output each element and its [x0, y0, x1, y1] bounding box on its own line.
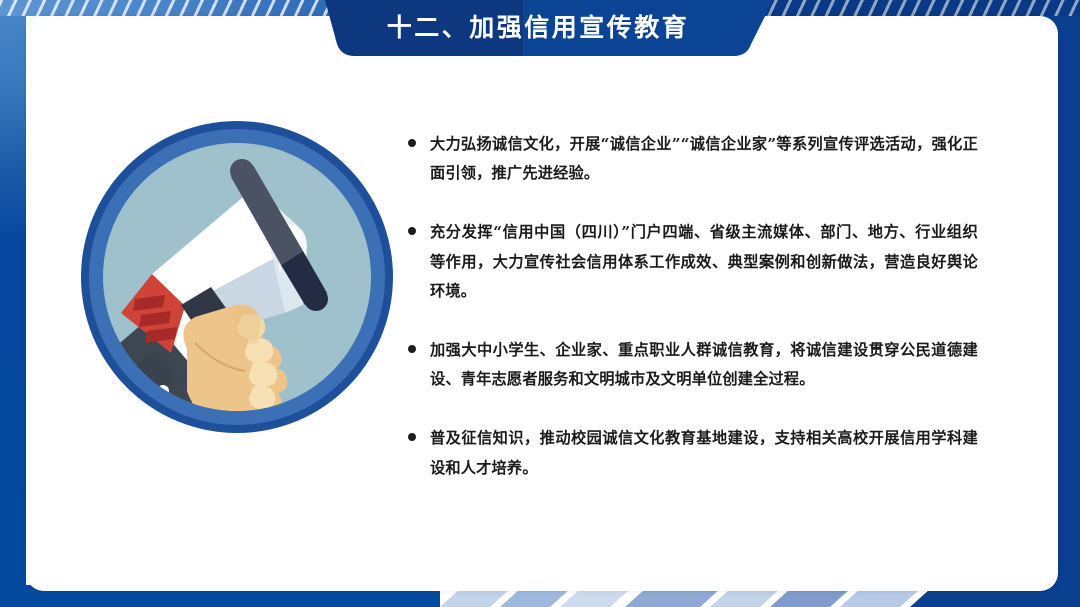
left-edge-gradient-bar — [0, 0, 26, 607]
slide-root: 十二、加强信用宣传教育 — [0, 0, 1080, 607]
bullet-list: 大力弘扬诚信文化，开展“诚信企业”“诚信企业家”等系列宣传评选活动，强化正面引领… — [408, 130, 978, 483]
bullet-text: 加强大中小学生、企业家、重点职业人群诚信教育，将诚信建设贯穿公民道德建设、青年志… — [430, 336, 978, 394]
list-item: 加强大中小学生、企业家、重点职业人群诚信教育，将诚信建设贯穿公民道德建设、青年志… — [408, 336, 978, 394]
bullet-dot-icon — [408, 433, 416, 441]
bullet-dot-icon — [408, 139, 416, 147]
megaphone-illustration — [59, 99, 415, 455]
right-edge-bar — [1058, 0, 1080, 607]
bullet-dot-icon — [408, 227, 416, 235]
list-item: 充分发挥“信用中国（四川）”门户四端、省级主流媒体、部门、地方、行业组织等作用，… — [408, 218, 978, 306]
title-banner: 十二、加强信用宣传教育 — [303, 0, 773, 60]
bullet-text: 大力弘扬诚信文化，开展“诚信企业”“诚信企业家”等系列宣传评选活动，强化正面引领… — [430, 130, 978, 188]
bullet-text: 充分发挥“信用中国（四川）”门户四端、省级主流媒体、部门、地方、行业组织等作用，… — [430, 218, 978, 306]
page-title: 十二、加强信用宣传教育 — [303, 0, 773, 56]
bullet-text: 普及征信知识，推动校园诚信文化教育基地建设，支持相关高校开展信用学科建设和人才培… — [430, 424, 978, 482]
list-item: 普及征信知识，推动校园诚信文化教育基地建设，支持相关高校开展信用学科建设和人才培… — [408, 424, 978, 482]
list-item: 大力弘扬诚信文化，开展“诚信企业”“诚信企业家”等系列宣传评选活动，强化正面引领… — [408, 130, 978, 188]
bullet-dot-icon — [408, 345, 416, 353]
